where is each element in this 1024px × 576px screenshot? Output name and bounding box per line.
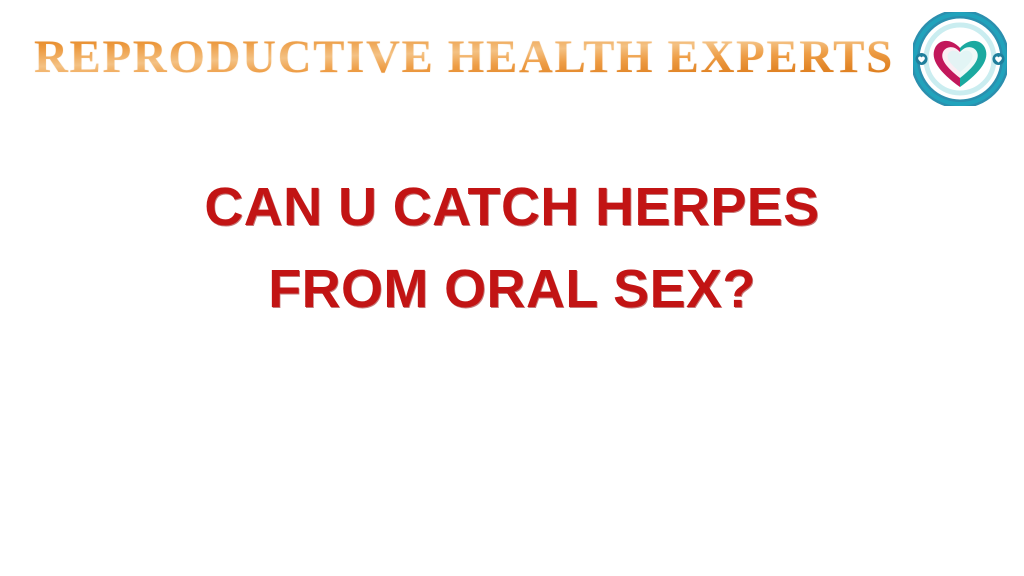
header-bar: REPRODUCTIVE HEALTH EXPERTS [0,0,1024,120]
headline-line-1: CAN U CATCH HERPES [0,176,1024,238]
content-area [0,340,1024,576]
logo-left-marker-icon [916,53,928,65]
slide-canvas: REPRODUCTIVE HEALTH EXPERTS [0,0,1024,576]
logo-badge [913,12,1007,106]
brand-title: REPRODUCTIVE HEALTH EXPERTS [34,29,894,85]
headline-line-2: FROM ORAL SEX? [0,258,1024,320]
headline-block: CAN U CATCH HERPES FROM ORAL SEX? [0,176,1024,320]
logo-right-marker-icon [993,53,1005,65]
